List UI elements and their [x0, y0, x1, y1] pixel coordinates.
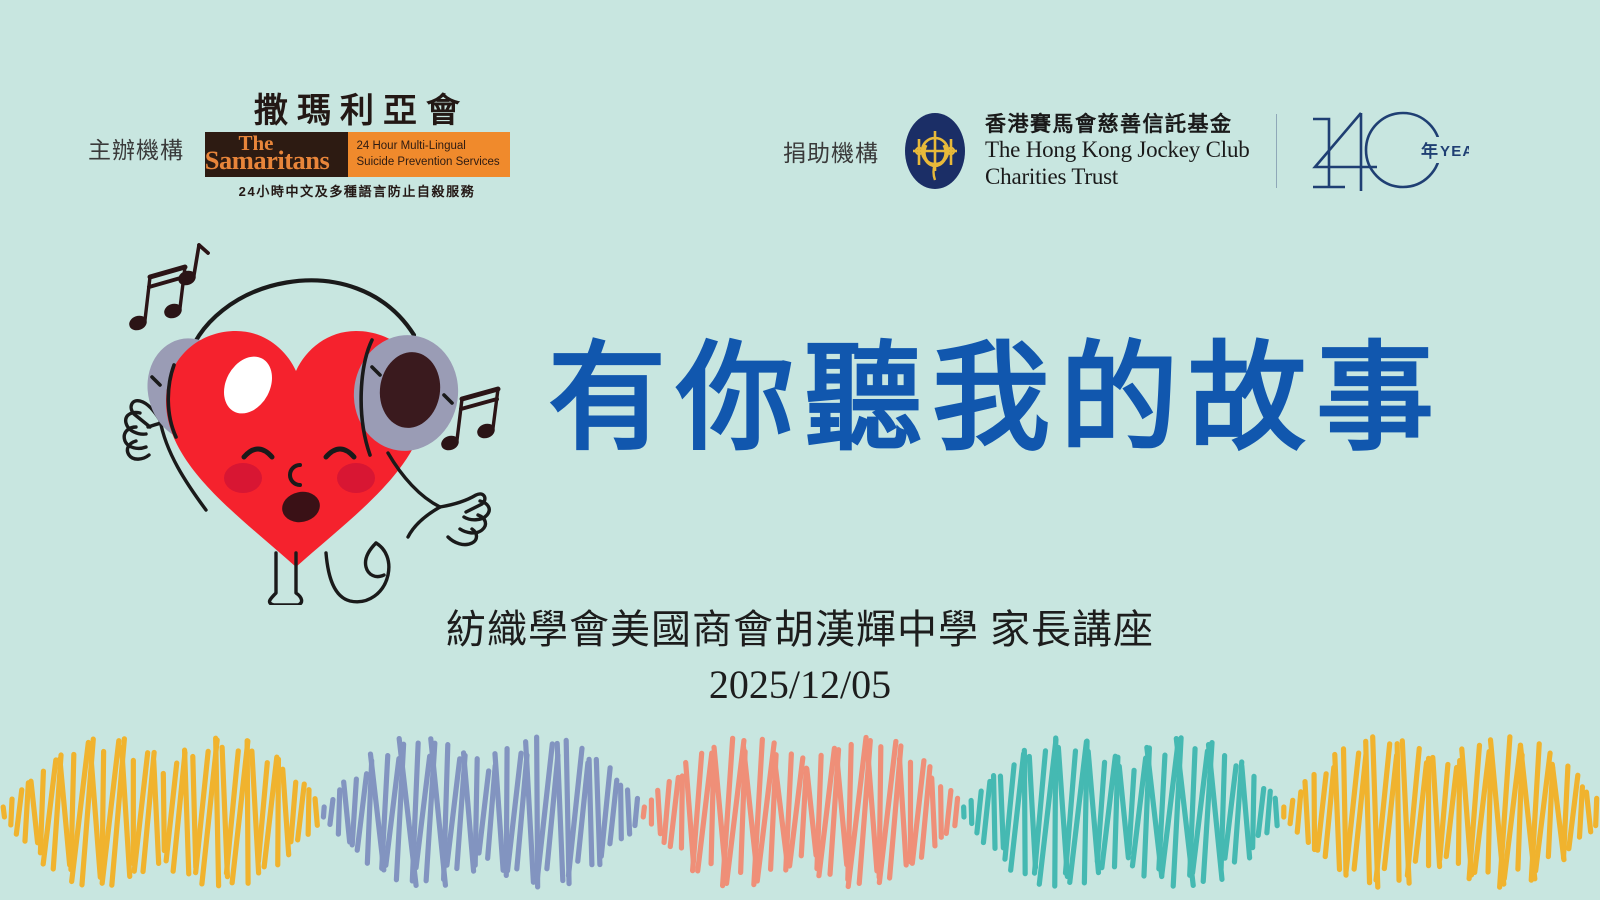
waveform-bar [1267, 791, 1270, 833]
waveform-bar [216, 738, 219, 886]
waveform-bar [464, 753, 474, 871]
waveform-bar [670, 777, 678, 846]
samaritans-tagline-line1: 24 Hour Multi-Lingual [357, 139, 510, 154]
jockey-club-text: 香港賽馬會慈善信託基金 The Hong Kong Jockey Club Ch… [985, 112, 1250, 190]
waveform-bar [557, 743, 563, 880]
subtitle-block: 紡織學會美國商會胡漢輝中學 家長講座 2025/12/05 [0, 605, 1600, 711]
waveform-bar [589, 759, 592, 864]
waveform-bar [3, 807, 4, 817]
waveform-bar [1242, 766, 1250, 858]
samaritans-logo: 撒瑪利亞會 The Samaritans 24 Hour Multi-Lingu… [202, 95, 512, 200]
waveform-bar [308, 790, 309, 835]
waveform-bar [1335, 755, 1340, 870]
samaritans-tagline-line2: Suicide Prevention Services [357, 155, 510, 170]
blush-left [224, 463, 262, 493]
waveform-bar [1055, 738, 1056, 886]
waveform-bar [983, 781, 989, 842]
waveform-bar [635, 798, 638, 825]
heart-character-with-headphones [88, 215, 518, 605]
waveform-bar [1596, 798, 1597, 825]
waveform-bar [315, 799, 317, 826]
waveform-bar [681, 776, 682, 848]
blush-right [337, 463, 375, 493]
waveform-bar [11, 799, 12, 825]
audio-waveform [0, 720, 1600, 900]
waveform-bar [1258, 789, 1264, 836]
anniversary-chinese-label: 年 [1421, 141, 1438, 161]
140-years-anniversary-logo: 年 YEARS [1299, 105, 1469, 197]
jockey-club-logo: 香港賽馬會慈善信託基金 The Hong Kong Jockey Club Ch… [899, 109, 1250, 193]
waveform-bar [1586, 792, 1590, 832]
waveform-bar [495, 754, 503, 871]
waveform-bar [40, 771, 43, 853]
waveform-bar [932, 778, 935, 846]
waveform-bar [526, 742, 534, 882]
waveform-bar [330, 800, 333, 825]
waveform-bar [643, 807, 644, 817]
samaritans-logo-bar: The Samaritans 24 Hour Multi-Lingual Sui… [205, 132, 510, 177]
waveform-bar [122, 748, 130, 877]
waveform-bar [338, 790, 339, 834]
jockey-club-english-line1: The Hong Kong Jockey Club [985, 136, 1250, 163]
waveform-bar [807, 769, 816, 855]
event-name: 紡織學會美國商會胡漢輝中學 家長講座 [0, 605, 1600, 655]
waveform-bar [278, 759, 279, 865]
poster-canvas: 主辦機構 撒瑪利亞會 The Samaritans 24 Hour Multi-… [0, 0, 1600, 900]
waveform-bar [31, 781, 38, 842]
waveform-bar [837, 759, 847, 864]
waveform-bar [323, 807, 324, 817]
waveform-bar [291, 782, 296, 841]
event-date: 2025/12/05 [0, 659, 1600, 711]
waveform-bar [1290, 800, 1293, 823]
page-title: 有你聽我的故事 [548, 337, 1444, 461]
waveform-bar [664, 782, 669, 843]
waveform-bar [868, 753, 877, 871]
waveform-bar [357, 774, 366, 850]
jockey-club-english-line2: Charities Trust [985, 163, 1250, 190]
waveform-bar [1305, 782, 1308, 843]
samaritans-chinese-name: 撒瑪利亞會 [245, 95, 469, 129]
waveform-bar [1488, 752, 1491, 872]
donor-label: 捐助機構 [783, 134, 879, 168]
waveform-bar [658, 790, 661, 833]
waveform-bar [185, 750, 189, 874]
logo-divider [1276, 114, 1277, 188]
waveform-bar [25, 783, 28, 841]
anniversary-years-label: YEARS [1440, 143, 1469, 160]
waveform-bar [60, 759, 70, 865]
host-label: 主辦機構 [88, 131, 184, 165]
waveform-bar [247, 741, 248, 884]
waveform-bar [1024, 750, 1025, 873]
jockey-club-roundel-icon [899, 109, 971, 193]
samaritans-wordmark-box: The Samaritans [205, 132, 348, 177]
waveform-bar [596, 759, 600, 864]
waveform-bar [1397, 744, 1399, 881]
waveform-bar [900, 759, 907, 865]
waveform-bar [621, 785, 622, 838]
waveform-bar [1253, 776, 1254, 847]
waveform-bar [1297, 792, 1301, 832]
waveform-bar [1000, 776, 1003, 848]
donor-organisation-block: 捐助機構 香港賽馬會慈善信託基金 [783, 105, 1469, 197]
waveform-bar [1458, 761, 1459, 864]
waveform-bar [971, 801, 972, 824]
samaritans-name-text: Samaritans [205, 146, 329, 176]
mascot-right-arm [388, 453, 489, 545]
waveform-bar [163, 773, 164, 850]
samaritans-chinese-tagline: 24小時中文及多種語言防止自殺服務 [239, 181, 476, 200]
waveform-bar [16, 790, 21, 834]
waveform-bar [994, 776, 995, 849]
waveform-bar [1579, 787, 1582, 837]
waveform-bar [90, 747, 100, 877]
waveform-bar [154, 761, 159, 864]
waveform-bar [1569, 775, 1578, 848]
jockey-club-chinese-name: 香港賽馬會慈善信託基金 [985, 112, 1250, 136]
waveform-bar [344, 782, 350, 842]
waveform-bar [298, 784, 305, 840]
samaritans-tagline-box: 24 Hour Multi-Lingual Suicide Prevention… [348, 132, 510, 177]
waveform-bar [946, 791, 951, 834]
host-organiser-block: 主辦機構 撒瑪利亞會 The Samaritans 24 Hour Multi-… [88, 95, 512, 200]
waveform-bar [711, 760, 714, 863]
waveform-bar [283, 769, 289, 854]
waveform-bar [955, 798, 958, 825]
waveform-bar [1366, 741, 1370, 882]
waveform-bar [1275, 798, 1277, 825]
waveform-bar [628, 790, 630, 834]
music-note-double-left [127, 267, 185, 333]
waveform-bar [610, 780, 617, 843]
waveform-bar [941, 787, 942, 837]
waveform-bar [977, 791, 981, 833]
waveform-bar [352, 779, 356, 845]
